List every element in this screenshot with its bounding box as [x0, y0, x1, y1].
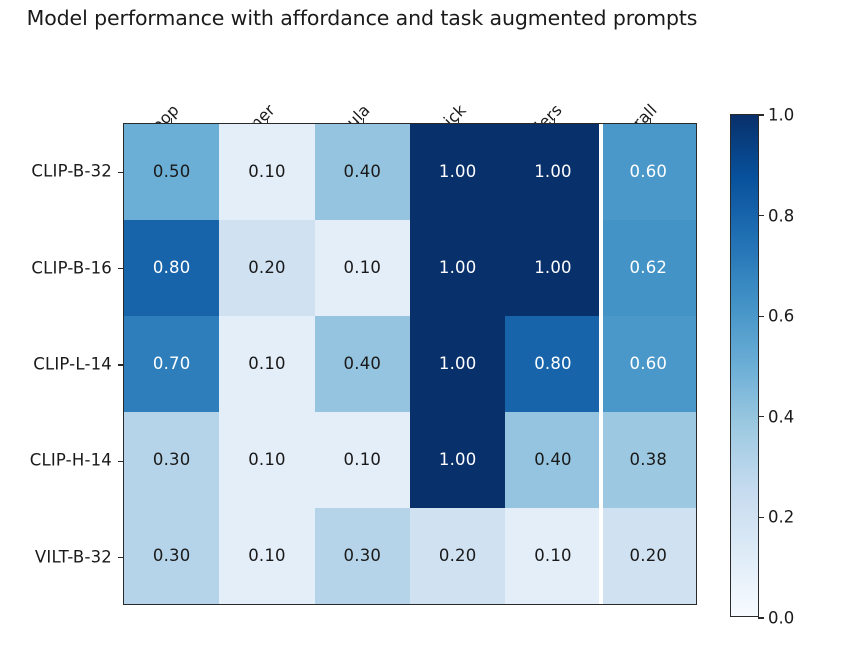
heatmap-cell[interactable]: 1.00 [410, 316, 505, 412]
heatmap-cell-value: 0.40 [534, 452, 572, 469]
heatmap-cell-value: 0.60 [630, 164, 668, 181]
heatmap-cell-value: 0.20 [248, 260, 286, 277]
colorbar-tick-label: 0.8 [768, 206, 794, 225]
colorbar-tick [758, 114, 764, 115]
heatmap-cell[interactable]: 0.30 [315, 508, 410, 604]
heatmap-cell[interactable]: 0.80 [124, 220, 219, 316]
x-axis-tick [458, 118, 459, 124]
heatmap-cell-value: 1.00 [534, 164, 572, 181]
y-axis-tick [118, 364, 124, 365]
heatmap-cell-value: 0.80 [153, 260, 191, 277]
y-axis-tick-label: VILT-B-32 [35, 547, 112, 566]
heatmap-cell[interactable]: 1.00 [410, 412, 505, 508]
heatmap-cell[interactable]: 0.60 [601, 124, 696, 220]
heatmap-cell[interactable]: 0.20 [410, 508, 505, 604]
heatmap-cell-value: 0.10 [534, 548, 572, 565]
colorbar-tick [758, 215, 764, 216]
heatmap-cell-value: 0.10 [248, 164, 286, 181]
heatmap-cell[interactable]: 0.40 [505, 412, 600, 508]
heatmap-cell[interactable]: 0.80 [505, 316, 600, 412]
heatmap-cell[interactable]: 0.30 [124, 508, 219, 604]
heatmap-cell[interactable]: 1.00 [410, 220, 505, 316]
heatmap-cell-value: 0.20 [630, 548, 668, 565]
colorbar-tick [758, 316, 764, 317]
heatmap-cell-value: 0.20 [439, 548, 477, 565]
y-axis-tick-label: CLIP-B-16 [31, 258, 112, 277]
heatmap-cell-value: 0.10 [344, 452, 382, 469]
heatmap-cell-value: 0.60 [630, 356, 668, 373]
heatmap-cell-value: 1.00 [439, 356, 477, 373]
heatmap-cell[interactable]: 0.40 [315, 124, 410, 220]
colorbar-tick-label: 0.6 [768, 307, 794, 326]
y-axis-tick [118, 557, 124, 558]
y-axis-tick [118, 461, 124, 462]
heatmap-cell[interactable]: 0.20 [219, 220, 314, 316]
heatmap-cell-value: 0.40 [344, 356, 382, 373]
x-axis-tick [363, 118, 364, 124]
heatmap-plot-area[interactable]: 0.500.100.401.001.000.600.800.200.101.00… [123, 123, 697, 605]
heatmap-cell[interactable]: 0.10 [315, 412, 410, 508]
heatmap-cell[interactable]: 0.40 [315, 316, 410, 412]
heatmap-cell[interactable]: 0.10 [219, 124, 314, 220]
heatmap-cell-value: 0.30 [344, 548, 382, 565]
heatmap-cell[interactable]: 0.60 [601, 316, 696, 412]
heatmap-cell-value: 0.80 [534, 356, 572, 373]
colorbar-tick [758, 416, 764, 417]
heatmap-cell-value: 0.30 [153, 548, 191, 565]
heatmap-cell[interactable]: 0.10 [505, 508, 600, 604]
heatmap-cell-value: 0.10 [344, 260, 382, 277]
heatmap-cell[interactable]: 0.10 [219, 316, 314, 412]
heatmap-cell[interactable]: 0.38 [601, 412, 696, 508]
y-axis-tick [118, 172, 124, 173]
heatmap-cell[interactable]: 0.30 [124, 412, 219, 508]
heatmap-cell-value: 0.10 [248, 548, 286, 565]
heatmap-cell-value: 1.00 [439, 260, 477, 277]
heatmap-cell-value: 0.10 [248, 452, 286, 469]
heatmap-cell[interactable]: 1.00 [505, 220, 600, 316]
heatmap-cell-value: 0.70 [153, 356, 191, 373]
colorbar-tick [758, 617, 764, 618]
colorbar[interactable]: 0.00.20.40.60.81.0 [730, 114, 759, 617]
heatmap-cell[interactable]: 0.62 [601, 220, 696, 316]
heatmap-cell-value: 0.62 [630, 260, 668, 277]
heatmap-cell-value: 0.10 [248, 356, 286, 373]
heatmap-cell[interactable]: 1.00 [505, 124, 600, 220]
page-title: Model performance with affordance and ta… [0, 6, 724, 30]
y-axis-tick-label: CLIP-L-14 [33, 355, 112, 374]
colorbar-tick-label: 0.2 [768, 508, 794, 527]
heatmap-cell-value: 0.50 [153, 164, 191, 181]
heatmap-cell-value: 0.38 [630, 452, 668, 469]
heatmap-cell-value: 1.00 [439, 164, 477, 181]
heatmap-grid: 0.500.100.401.001.000.600.800.200.101.00… [124, 124, 696, 604]
x-axis-tick [650, 118, 651, 124]
y-axis-tick-labels: CLIP-B-32CLIP-B-16CLIP-L-14CLIP-H-14VILT… [0, 123, 112, 605]
heatmap-cell[interactable]: 0.70 [124, 316, 219, 412]
x-axis-tick [554, 118, 555, 124]
heatmap-cell[interactable]: 0.10 [219, 412, 314, 508]
y-axis-tick [118, 268, 124, 269]
heatmap-cell[interactable]: 0.50 [124, 124, 219, 220]
heatmap-cell-value: 1.00 [534, 260, 572, 277]
x-axis-tick [267, 118, 268, 124]
heatmap-cell-value: 0.30 [153, 452, 191, 469]
colorbar-gradient [731, 115, 758, 616]
heatmap-cell[interactable]: 0.10 [315, 220, 410, 316]
heatmap-cell[interactable]: 0.10 [219, 508, 314, 604]
colorbar-tick-label: 0.0 [768, 609, 794, 628]
colorbar-tick [758, 517, 764, 518]
y-axis-tick-label: CLIP-H-14 [30, 451, 112, 470]
colorbar-tick-label: 0.4 [768, 407, 794, 426]
heatmap-cell[interactable]: 1.00 [410, 124, 505, 220]
heatmap-cell-value: 1.00 [439, 452, 477, 469]
x-axis-tick [171, 118, 172, 124]
heatmap-cell[interactable]: 0.20 [601, 508, 696, 604]
colorbar-tick-label: 1.0 [768, 106, 794, 125]
y-axis-tick-label: CLIP-B-32 [31, 162, 112, 181]
heatmap-cell-value: 0.40 [344, 164, 382, 181]
